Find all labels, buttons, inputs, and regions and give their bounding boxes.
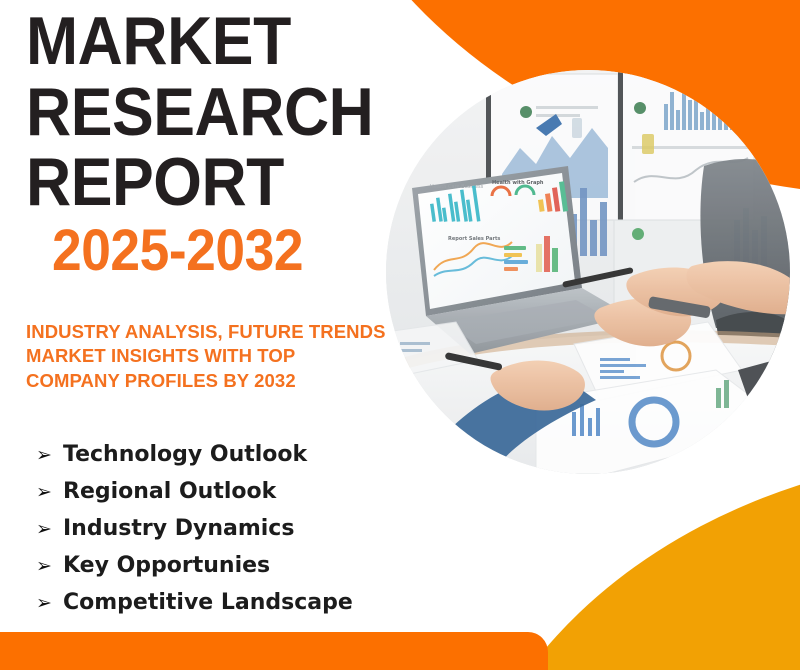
title-line-3: REPORT <box>26 149 357 216</box>
arrow-bullet-icon: ➢ <box>36 557 63 576</box>
list-item: ➢ Industry Dynamics <box>36 518 406 540</box>
list-item-label: Key Opportunies <box>63 555 270 577</box>
highlights-list: ➢ Technology Outlook ➢ Regional Outlook … <box>36 444 406 629</box>
title-line-1: MARKET <box>26 8 357 75</box>
list-item: ➢ Competitive Landscape <box>36 592 406 614</box>
list-item: ➢ Technology Outlook <box>36 444 406 466</box>
arrow-bullet-icon: ➢ <box>36 446 63 465</box>
arrow-bullet-icon: ➢ <box>36 594 63 613</box>
list-item-label: Industry Dynamics <box>63 518 294 540</box>
list-item-label: Competitive Landscape <box>63 592 353 614</box>
list-item-label: Regional Outlook <box>63 481 276 503</box>
list-item-label: Technology Outlook <box>63 444 307 466</box>
list-item: ➢ Key Opportunies <box>36 555 406 577</box>
page-title: MARKET RESEARCH REPORT 2025-2032 <box>26 8 386 280</box>
subtitle: INDUSTRY ANALYSIS, FUTURE TRENDS MARKET … <box>26 320 388 393</box>
market-research-report-banner: Health Care Business Health with Graph <box>0 0 800 670</box>
text-column: MARKET RESEARCH REPORT 2025-2032 INDUSTR… <box>0 0 400 670</box>
title-line-2: RESEARCH <box>26 79 357 146</box>
arrow-bullet-icon: ➢ <box>36 520 63 539</box>
arrow-bullet-icon: ➢ <box>36 483 63 502</box>
title-year-range: 2025-2032 <box>52 222 359 280</box>
list-item: ➢ Regional Outlook <box>36 481 406 503</box>
business-meeting-analytics-photo: Health Care Business Health with Graph <box>386 70 790 474</box>
